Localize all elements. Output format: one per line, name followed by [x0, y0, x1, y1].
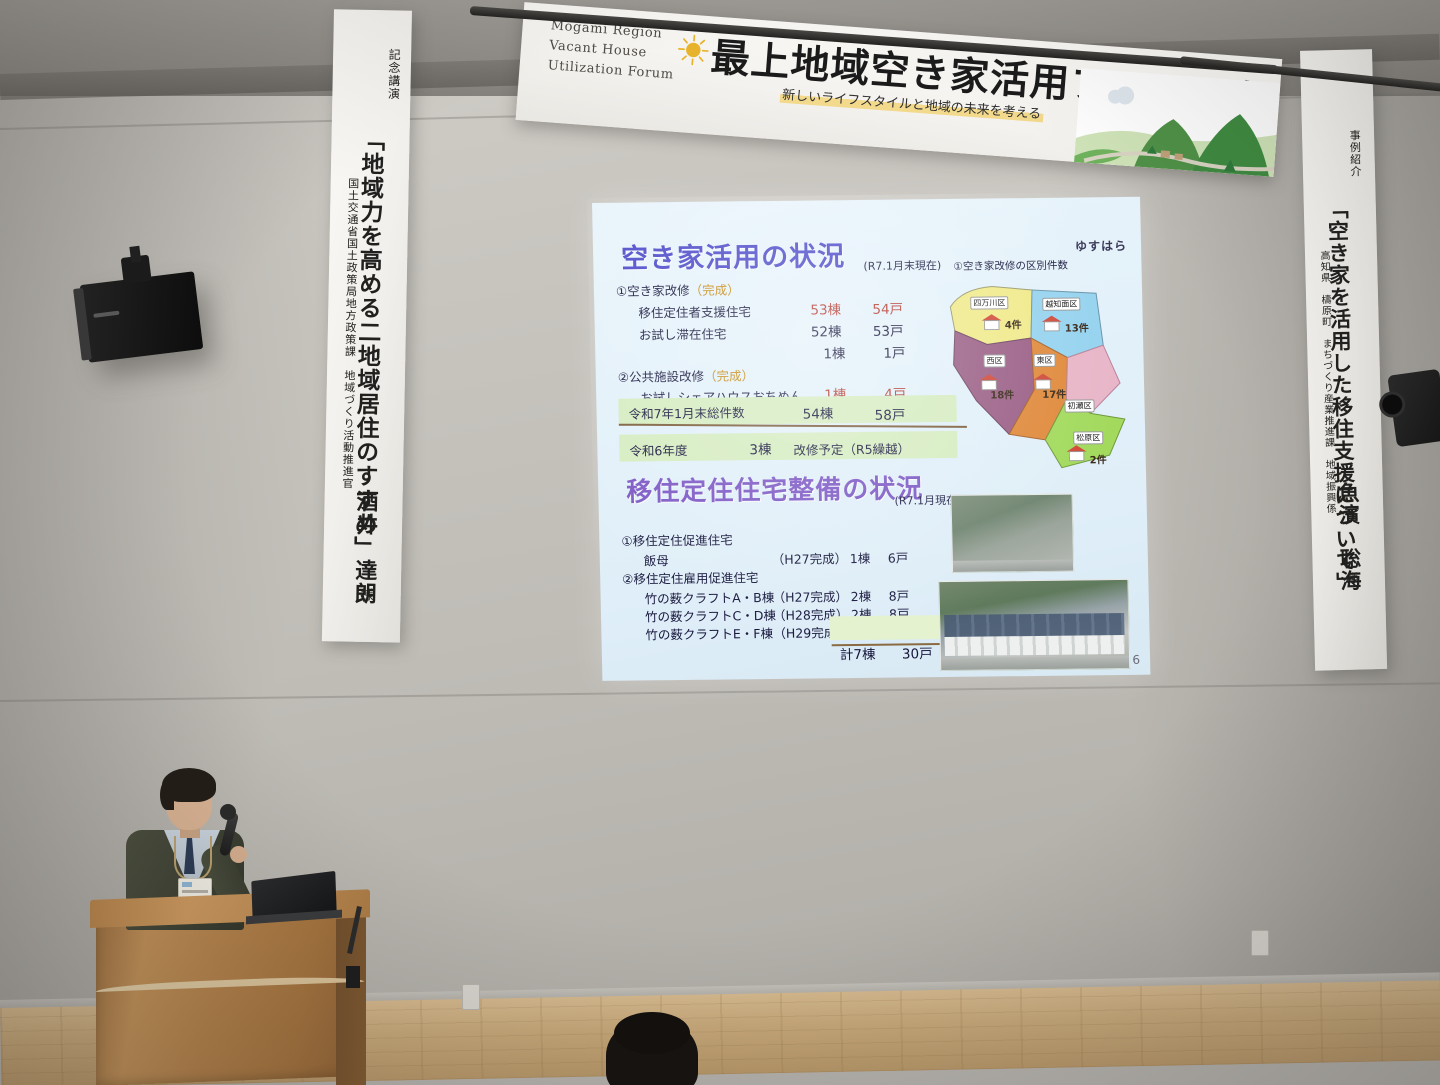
slide-group2-heading: ②公共施設改修（完成） — [618, 365, 755, 386]
slide-row-buildings: 53棟 — [810, 298, 841, 318]
slide-group1-heading: ①空き家改修（完成） — [616, 279, 740, 299]
house-icon — [1065, 443, 1087, 461]
slide-group1-heading-status: （完成） — [689, 282, 739, 298]
slide-row-units: 54戸 — [872, 297, 903, 317]
slide-row-units: 53戸 — [873, 319, 904, 339]
right-banner-kicker: 事例紹介 — [1346, 129, 1363, 177]
village-map-illustration — [1074, 68, 1281, 177]
photo-wall-row — [945, 635, 1126, 656]
presenter-hair-side — [160, 780, 174, 810]
microphone-head-icon — [220, 804, 236, 820]
slide-row-label: 竹の薮クラフトE・F棟 — [645, 623, 773, 643]
slide-total-buildings: 54棟 — [802, 402, 833, 422]
photo-road — [941, 656, 1129, 670]
projection-screen: ゆすはら 空き家活用の状況 (R7.1月末現在) ①空き家改修（完成） 移住定住… — [592, 197, 1150, 681]
slide-total-units: 58戸 — [874, 403, 905, 423]
presentation-slide: ゆすはら 空き家活用の状況 (R7.1月末現在) ①空き家改修（完成） 移住定住… — [592, 197, 1150, 681]
wall-outlet[interactable] — [462, 984, 480, 1010]
podium-control-box[interactable] — [346, 966, 360, 988]
house-icon — [978, 372, 1000, 390]
lanyard — [174, 836, 212, 880]
map-label-shimanogawa: 四万川区 — [970, 296, 1008, 309]
wall-outlet[interactable] — [1251, 930, 1269, 956]
slide-row-label: 移住定住者支援住宅 — [638, 301, 751, 321]
presenter-hand — [230, 846, 247, 863]
house-icon — [1032, 372, 1054, 390]
slide-section1-title: 空き家活用の状況 — [621, 234, 846, 276]
wooden-podium — [96, 908, 364, 1085]
slide-row-completed: （H27完成） — [772, 586, 848, 606]
slide-page-number: 6 — [1132, 653, 1140, 667]
left-program-banner: 記念講演 「地域力を高める二地域居住のすすめ」 国土交通省国土政策局地方政策課 … — [322, 9, 412, 642]
house-icon — [980, 312, 1002, 330]
podium-side-panel — [336, 900, 366, 1085]
map-count-matsubara: 2件 — [1090, 451, 1107, 466]
wall-speaker — [80, 271, 204, 362]
slide-row-buildings: 52棟 — [811, 320, 842, 340]
slide-section2-title: 移住定住住宅整備の状況 — [626, 468, 924, 508]
slide-row-units: 1戸 — [883, 341, 906, 361]
slide-group2-heading-status: （完成） — [704, 368, 754, 384]
slide-row-units: 6戸 — [888, 547, 909, 566]
sun-icon — [675, 32, 711, 68]
audience-head — [606, 1018, 698, 1085]
map-label-hatsuse: 初瀬区 — [1064, 399, 1094, 412]
house-icon — [1041, 314, 1063, 332]
slide-row-label: 飯母 — [644, 550, 669, 569]
conference-hall-scene: Mogami Region Vacant House Utilization F… — [0, 0, 1440, 1085]
yusuhara-logo: ゆすはら — [1075, 237, 1127, 255]
slide-section1-asof: (R7.1月末現在) — [863, 257, 941, 274]
slide-section2-group2-heading: ②移住定住雇用促進住宅 — [622, 567, 759, 588]
photo-road — [953, 560, 1073, 572]
slide-group2-heading-prefix: ②公共施設改修 — [618, 369, 705, 385]
right-banner-honorific: 様 — [1344, 572, 1361, 585]
map-label-nishi: 西区 — [983, 354, 1005, 367]
slide-row-label: お試し滞在住宅 — [639, 323, 727, 343]
slide-row-completed: （H27完成） — [772, 548, 848, 568]
slide-group1-heading-prefix: ①空き家改修 — [616, 283, 690, 299]
slide-total-underline — [619, 424, 967, 428]
slide-row-units: 8戸 — [888, 585, 909, 604]
slide-total-label: 令和7年1月末総件数 — [628, 402, 744, 422]
yusuhara-district-map: 四万川区 4件 越知面区 13件 西区 18件 東区 17件 初瀬区 松原区 2… — [946, 271, 1132, 473]
map-count-ochimen: 13件 — [1065, 319, 1089, 334]
right-program-banner: 事例紹介 「空き家を活用した移住支援について」 高知県 檮原町 まちづくり産業推… — [1300, 49, 1387, 671]
speaker-mount-arm — [129, 246, 141, 263]
map-label-higashi: 東区 — [1033, 354, 1055, 367]
map-label-ochimen: 越知面区 — [1042, 297, 1080, 310]
aerial-road-housing-photo — [950, 494, 1074, 573]
slide-planned-label: 令和6年度 — [629, 440, 687, 460]
slide-planned-note: 改修予定（R5繰越） — [793, 438, 910, 458]
slide-section2-group1-heading: ①移住定住促進住宅 — [621, 529, 733, 549]
map-count-shimanogawa: 4件 — [1005, 316, 1022, 331]
left-banner-kicker: 記念講演 — [385, 48, 403, 100]
video-camera — [1387, 369, 1440, 448]
slide-row-buildings: 1棟 — [823, 342, 846, 362]
speaker-port-slit — [93, 311, 119, 318]
slide-row-buildings: 1棟 — [850, 548, 871, 567]
row-housing-photo — [938, 579, 1130, 671]
left-banner-honorific: 様 — [356, 588, 375, 602]
slide-planned-value: 3棟 — [749, 438, 772, 458]
slide-row-buildings: 2棟 — [850, 586, 871, 605]
